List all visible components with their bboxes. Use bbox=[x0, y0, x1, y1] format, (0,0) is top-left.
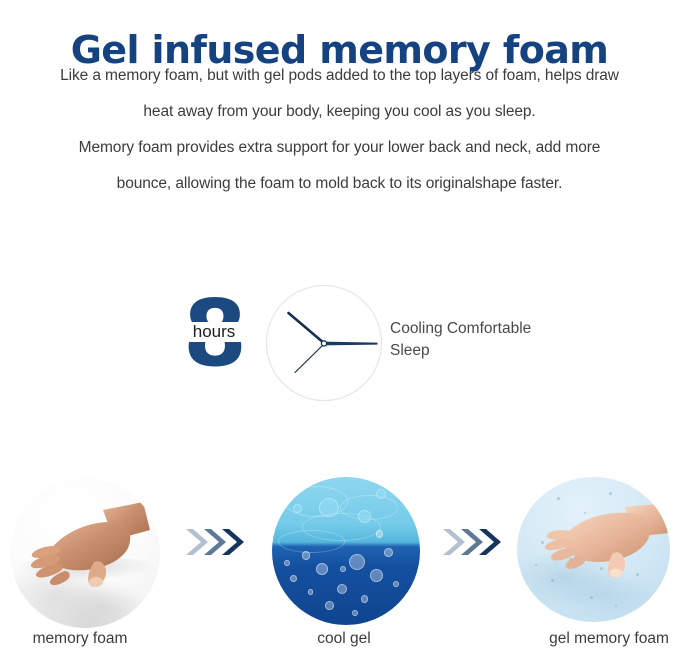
product-label-memory-foam: memory foam bbox=[0, 630, 165, 648]
hours-label: hours bbox=[173, 322, 255, 342]
cooling-sleep-caption: Cooling Comfortable Sleep bbox=[390, 318, 580, 362]
paragraph-2-line-1: Memory foam provides extra support for y… bbox=[0, 130, 679, 166]
paragraph-2-line-2: bounce, allowing the foam to mold back t… bbox=[0, 166, 679, 202]
product-cool-gel: cool gel bbox=[259, 470, 429, 661]
intro-paragraph-1: Like a memory foam, but with gel pods ad… bbox=[0, 58, 679, 130]
product-label-cool-gel: cool gel bbox=[259, 630, 429, 648]
eight-hours-badge: 8 hours bbox=[182, 288, 246, 380]
product-gel-memory-foam: gel memory foam bbox=[509, 470, 679, 661]
product-label-gel-memory-foam: gel memory foam bbox=[519, 630, 679, 648]
material-progression-row: memory foam bbox=[0, 470, 679, 661]
cool-gel-image bbox=[272, 477, 420, 625]
memory-foam-image bbox=[10, 478, 160, 628]
chevron-right-icon-light bbox=[186, 529, 208, 555]
caption-line-2: Sleep bbox=[390, 340, 580, 362]
chevron-arrow-group-2 bbox=[440, 525, 502, 559]
paragraph-1-line-2: heat away from your body, keeping you co… bbox=[0, 94, 679, 130]
product-memory-foam: memory foam bbox=[0, 470, 170, 661]
paragraph-1-line-1: Like a memory foam, but with gel pods ad… bbox=[0, 58, 679, 94]
cooling-sleep-feature: 8 hours Cooling Comfortable Sleep bbox=[0, 280, 679, 410]
clock-icon bbox=[265, 284, 383, 402]
chevron-right-icon-light bbox=[443, 529, 465, 555]
white-foam-surface bbox=[10, 478, 160, 628]
blue-foam-surface bbox=[517, 477, 670, 622]
chevron-arrow-group-1 bbox=[183, 525, 245, 559]
intro-paragraph-2: Memory foam provides extra support for y… bbox=[0, 130, 679, 202]
caption-line-1: Cooling Comfortable bbox=[390, 318, 580, 340]
gel-memory-foam-image bbox=[517, 477, 670, 622]
gel-surface bbox=[272, 477, 420, 625]
